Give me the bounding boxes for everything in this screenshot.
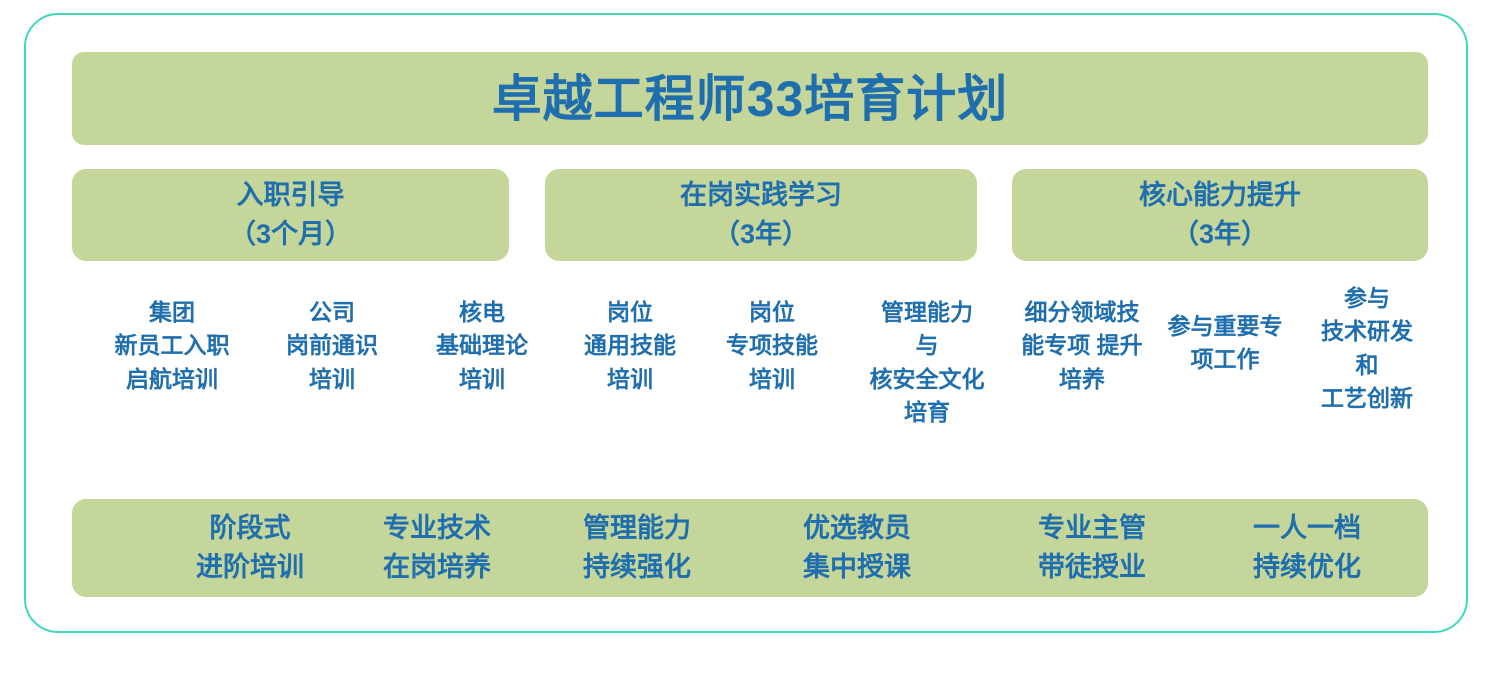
detail-item-6: 管理能力 与 核安全文化 培育 <box>832 296 1022 429</box>
detail-item-2-line-1: 公司 <box>247 296 417 329</box>
detail-items-row: 集团 新员工入职 启航培训 公司 岗前通识 培训 核电 基础理论 培训 岗位 通… <box>72 296 1432 481</box>
phase-2-name: 在岗实践学习 <box>680 176 842 215</box>
feature-item-1: 阶段式 进阶培训 <box>160 499 340 597</box>
detail-item-3-line-1: 核电 <box>397 296 567 329</box>
detail-item-7-line-2: 能专项 提升 <box>997 329 1167 362</box>
feature-item-5-line-2: 带徒授业 <box>1038 548 1146 587</box>
detail-item-9-line-2: 技术研发 <box>1282 315 1452 348</box>
phase-1-duration: （3个月） <box>229 215 352 254</box>
phase-1-name: 入职引导 <box>237 176 345 215</box>
detail-item-3-line-3: 培训 <box>397 363 567 396</box>
detail-item-2: 公司 岗前通识 培训 <box>247 296 417 396</box>
feature-item-2: 专业技术 在岗培养 <box>342 499 532 597</box>
detail-item-9: 参与 技术研发 和 工艺创新 <box>1282 282 1452 415</box>
detail-item-7: 细分领域技 能专项 提升 培养 <box>997 296 1167 396</box>
detail-item-1-line-3: 启航培训 <box>72 363 272 396</box>
detail-item-6-line-1: 管理能力 <box>832 296 1022 329</box>
phase-header-3: 核心能力提升 （3年） <box>1012 169 1428 261</box>
feature-item-4-line-1: 优选教员 <box>803 509 911 548</box>
detail-item-2-line-3: 培训 <box>247 363 417 396</box>
detail-item-8-line-1: 参与重要专 <box>1145 310 1305 343</box>
title-banner: 卓越工程师33培育计划 <box>72 52 1428 145</box>
phase-header-2: 在岗实践学习 （3年） <box>545 169 977 261</box>
detail-item-9-line-3: 和 <box>1282 349 1452 382</box>
feature-item-6-line-1: 一人一档 <box>1253 509 1361 548</box>
detail-item-1-line-2: 新员工入职 <box>72 329 272 362</box>
detail-item-1: 集团 新员工入职 启航培训 <box>72 296 272 396</box>
detail-item-6-line-3: 核安全文化 <box>832 363 1022 396</box>
detail-item-7-line-3: 培养 <box>997 363 1167 396</box>
phase-3-name: 核心能力提升 <box>1139 176 1301 215</box>
page-title: 卓越工程师33培育计划 <box>492 74 1009 124</box>
feature-item-3: 管理能力 持续强化 <box>542 499 732 597</box>
feature-item-3-line-1: 管理能力 <box>583 509 691 548</box>
feature-item-5: 专业主管 带徒授业 <box>997 499 1187 597</box>
detail-item-9-line-1: 参与 <box>1282 282 1452 315</box>
detail-item-3-line-2: 基础理论 <box>397 329 567 362</box>
feature-item-1-line-2: 进阶培训 <box>196 548 304 587</box>
detail-item-6-line-4: 培育 <box>832 396 1022 429</box>
feature-item-6: 一人一档 持续优化 <box>1212 499 1402 597</box>
feature-item-2-line-2: 在岗培养 <box>383 548 491 587</box>
feature-item-6-line-2: 持续优化 <box>1253 548 1361 587</box>
feature-item-5-line-1: 专业主管 <box>1038 509 1146 548</box>
detail-item-9-line-4: 工艺创新 <box>1282 382 1452 415</box>
detail-item-1-line-1: 集团 <box>72 296 272 329</box>
feature-item-1-line-1: 阶段式 <box>210 509 291 548</box>
bottom-feature-bar: 阶段式 进阶培训 专业技术 在岗培养 管理能力 持续强化 优选教员 集中授课 专… <box>72 499 1428 597</box>
feature-item-3-line-2: 持续强化 <box>583 548 691 587</box>
detail-item-2-line-2: 岗前通识 <box>247 329 417 362</box>
phase-header-1: 入职引导 （3个月） <box>72 169 509 261</box>
feature-item-4: 优选教员 集中授课 <box>762 499 952 597</box>
detail-item-7-line-1: 细分领域技 <box>997 296 1167 329</box>
detail-item-8-line-2: 项工作 <box>1145 343 1305 376</box>
detail-item-6-line-2: 与 <box>832 329 1022 362</box>
detail-item-8: 参与重要专 项工作 <box>1145 310 1305 377</box>
diagram-canvas: 卓越工程师33培育计划 入职引导 （3个月） 在岗实践学习 （3年） 核心能力提… <box>0 0 1494 678</box>
phase-3-duration: （3年） <box>1172 215 1268 254</box>
feature-item-2-line-1: 专业技术 <box>383 509 491 548</box>
detail-item-3: 核电 基础理论 培训 <box>397 296 567 396</box>
phase-2-duration: （3年） <box>713 215 809 254</box>
feature-item-4-line-2: 集中授课 <box>803 548 911 587</box>
